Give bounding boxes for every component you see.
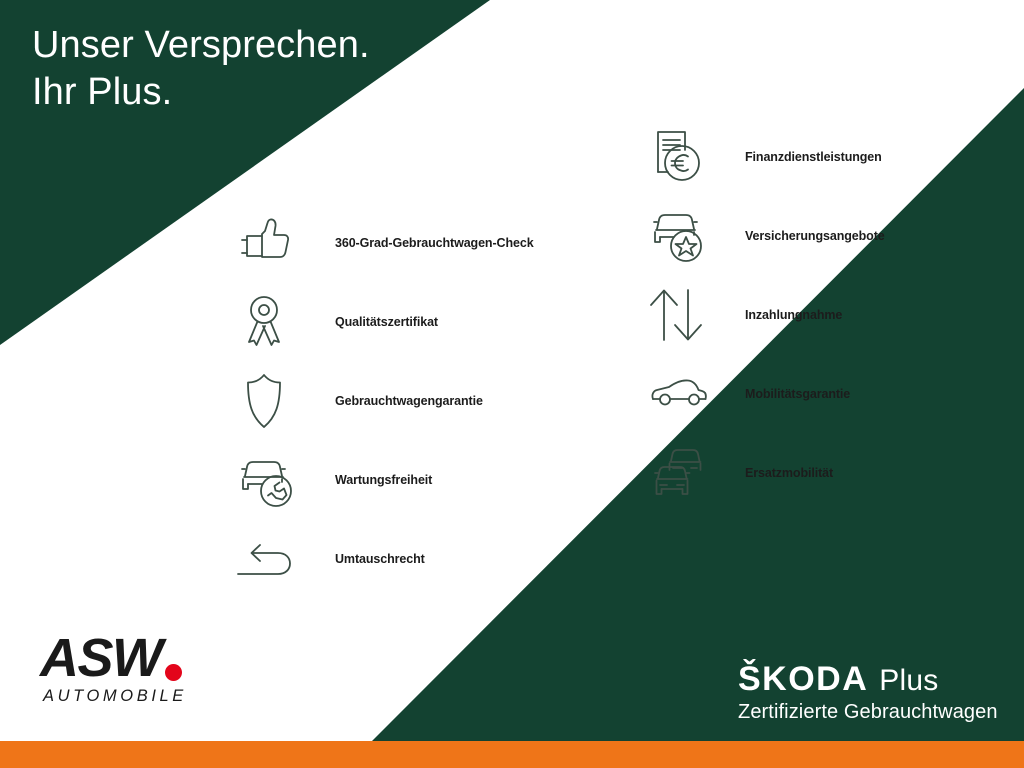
benefits-column-right: Finanzdienstleistungen Versicherungsange… xyxy=(648,117,885,512)
benefit-item: Ersatzmobilität xyxy=(648,433,885,512)
asw-red-dot-icon xyxy=(165,664,182,681)
benefit-label: 360-Grad-Gebrauchtwagen-Check xyxy=(335,236,534,250)
benefit-label: Inzahlungnahme xyxy=(745,308,842,322)
thumbs-up-icon xyxy=(236,210,304,276)
award-rosette-icon xyxy=(236,289,304,355)
car-wrench-icon xyxy=(236,447,304,513)
document-euro-icon xyxy=(648,124,716,190)
skoda-plus-logo: ŠKODA Plus Zertifizierte Gebrauchtwagen xyxy=(738,660,998,724)
benefits-column-left: 360-Grad-Gebrauchtwagen-Check Qualitätsz… xyxy=(236,203,534,598)
benefit-item: Inzahlungnahme xyxy=(648,275,885,354)
return-arrow-icon xyxy=(236,526,304,592)
asw-wordmark: ASW xyxy=(40,630,240,686)
benefit-label: Qualitätszertifikat xyxy=(335,315,438,329)
skoda-logo-row: ŠKODA Plus xyxy=(738,660,998,699)
benefit-item: Mobilitätsgarantie xyxy=(648,354,885,433)
benefit-label: Gebrauchtwagengarantie xyxy=(335,394,483,408)
shield-icon xyxy=(236,368,304,434)
headline-line-1: Unser Versprechen. xyxy=(32,22,370,69)
page-title: Unser Versprechen. Ihr Plus. xyxy=(32,22,370,116)
skoda-wordmark: ŠKODA xyxy=(738,660,868,699)
two-cars-icon xyxy=(648,440,716,506)
headline-line-2: Ihr Plus. xyxy=(32,69,370,116)
benefit-item: Versicherungsangebote xyxy=(648,196,885,275)
benefit-item: Finanzdienstleistungen xyxy=(648,117,885,196)
asw-subtitle: AUTOMOBILE xyxy=(43,687,240,706)
benefit-label: Wartungsfreiheit xyxy=(335,473,432,487)
benefit-item: Umtauschrecht xyxy=(236,519,534,598)
benefit-label: Versicherungsangebote xyxy=(745,229,885,243)
benefit-item: Qualitätszertifikat xyxy=(236,282,534,361)
asw-wordmark-text: ASW xyxy=(40,630,161,686)
skoda-subtitle: Zertifizierte Gebrauchtwagen xyxy=(738,701,998,724)
benefit-label: Umtauschrecht xyxy=(335,552,425,566)
benefit-item: Wartungsfreiheit xyxy=(236,440,534,519)
up-down-arrows-icon xyxy=(648,282,716,348)
promo-graphic: Unser Versprechen. Ihr Plus. 360-Grad-Ge… xyxy=(0,0,1024,768)
car-side-icon xyxy=(648,361,716,427)
skoda-plus-label: Plus xyxy=(879,664,938,698)
benefit-item: Gebrauchtwagengarantie xyxy=(236,361,534,440)
asw-logo: ASW AUTOMOBILE xyxy=(40,630,240,706)
benefit-label: Mobilitätsgarantie xyxy=(745,387,850,401)
benefit-item: 360-Grad-Gebrauchtwagen-Check xyxy=(236,203,534,282)
benefit-label: Finanzdienstleistungen xyxy=(745,150,882,164)
car-star-icon xyxy=(648,203,716,269)
benefit-label: Ersatzmobilität xyxy=(745,466,833,480)
orange-stripe-bottom xyxy=(0,741,1024,768)
